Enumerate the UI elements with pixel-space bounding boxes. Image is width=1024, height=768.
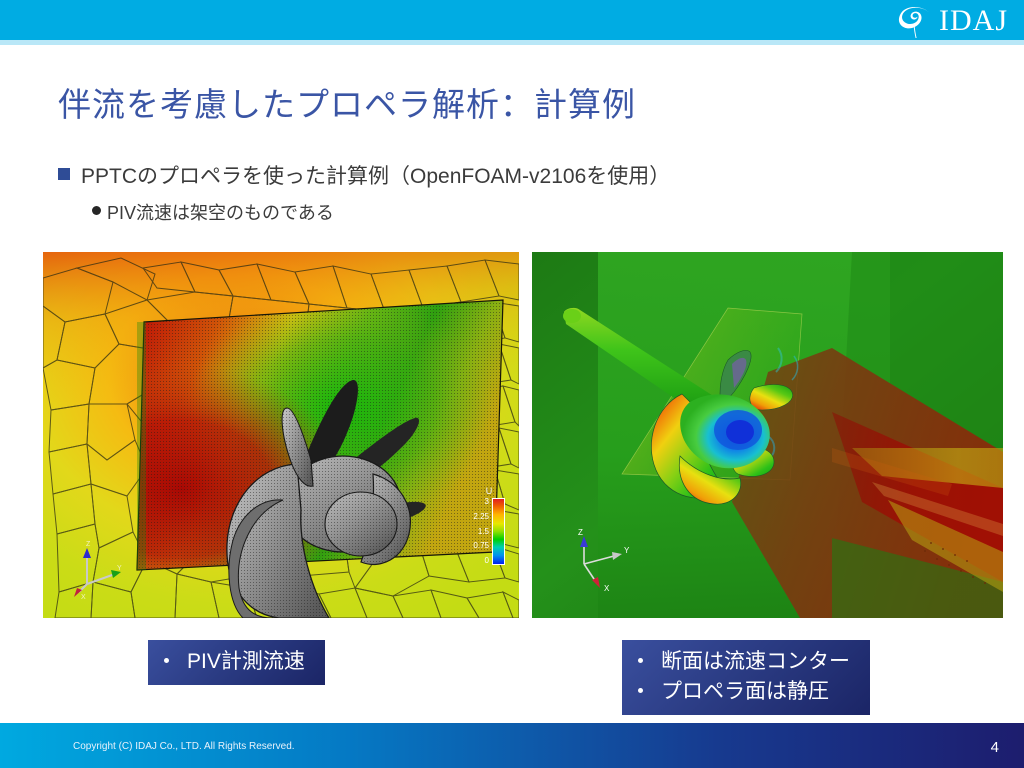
bullet-level1: PPTCのプロペラを使った計算例（OpenFOAM-v2106を使用） [58, 160, 670, 190]
page-number: 4 [991, 739, 999, 756]
legend-tick: 0 [485, 557, 489, 565]
axis-triad-right: Z Y X [566, 528, 640, 594]
caption-label: PIV計測流速 [187, 647, 305, 677]
bullet-level1-label: PPTCのプロペラを使った計算例（OpenFOAM-v2106を使用） [81, 160, 670, 190]
svg-text:Z: Z [578, 528, 583, 537]
legend-tick: 0.75 [473, 542, 489, 550]
axis-triad-left: Z Y X [65, 540, 125, 600]
legend-title: U [467, 486, 511, 496]
caption-box-left: PIV計測流速 [148, 640, 325, 685]
bullet-level2: PIV流速は架空のものである [92, 199, 334, 225]
cfd-static-pressure-velocity-visualization: staticP 5.000e+04 2.500e+04 0.000e+00 -2… [532, 252, 1003, 618]
caption-bullet-icon [638, 658, 643, 663]
caption-bullet-icon [164, 658, 169, 663]
svg-text:X: X [604, 584, 610, 593]
idaj-swirl-logo-icon [895, 4, 937, 38]
svg-text:Y: Y [117, 565, 122, 572]
caption-line: PIV計測流速 [164, 647, 305, 677]
legend-tick-labels: 3 2.25 1.5 0.75 0 [467, 498, 489, 565]
caption-line: プロペラ面は静圧 [638, 677, 850, 707]
square-bullet-icon [58, 168, 70, 180]
legend-tick: 2.25 [473, 513, 489, 521]
bullet-level2-label: PIV流速は架空のものである [107, 199, 334, 225]
velocity-color-legend-left: U 3 2.25 1.5 0.75 0 [467, 486, 511, 565]
idaj-logo: IDAJ [895, 3, 1008, 39]
caption-label: プロペラ面は静圧 [661, 677, 829, 707]
piv-measured-velocity-visualization: U 3 2.25 1.5 0.75 0 Z Y X [43, 252, 519, 618]
round-bullet-icon [92, 206, 101, 215]
svg-text:Z: Z [86, 541, 91, 548]
logo-wordmark: IDAJ [939, 6, 1008, 36]
header-bar [0, 0, 1024, 40]
svg-text:Y: Y [624, 546, 630, 555]
legend-tick: 3 [485, 498, 489, 506]
caption-box-right: 断面は流速コンター プロペラ面は静圧 [622, 640, 870, 715]
caption-bullet-icon [638, 688, 643, 693]
legend-color-bar [492, 498, 505, 565]
page-title: 伴流を考慮したプロペラ解析：計算例 [58, 78, 636, 126]
copyright-text: Copyright (C) IDAJ Co., LTD. All Rights … [73, 741, 295, 752]
legend-tick: 1.5 [478, 528, 489, 536]
caption-line: 断面は流速コンター [638, 647, 850, 677]
header-accent-divider [0, 40, 1024, 45]
svg-text:X: X [81, 594, 86, 600]
caption-label: 断面は流速コンター [661, 647, 850, 677]
